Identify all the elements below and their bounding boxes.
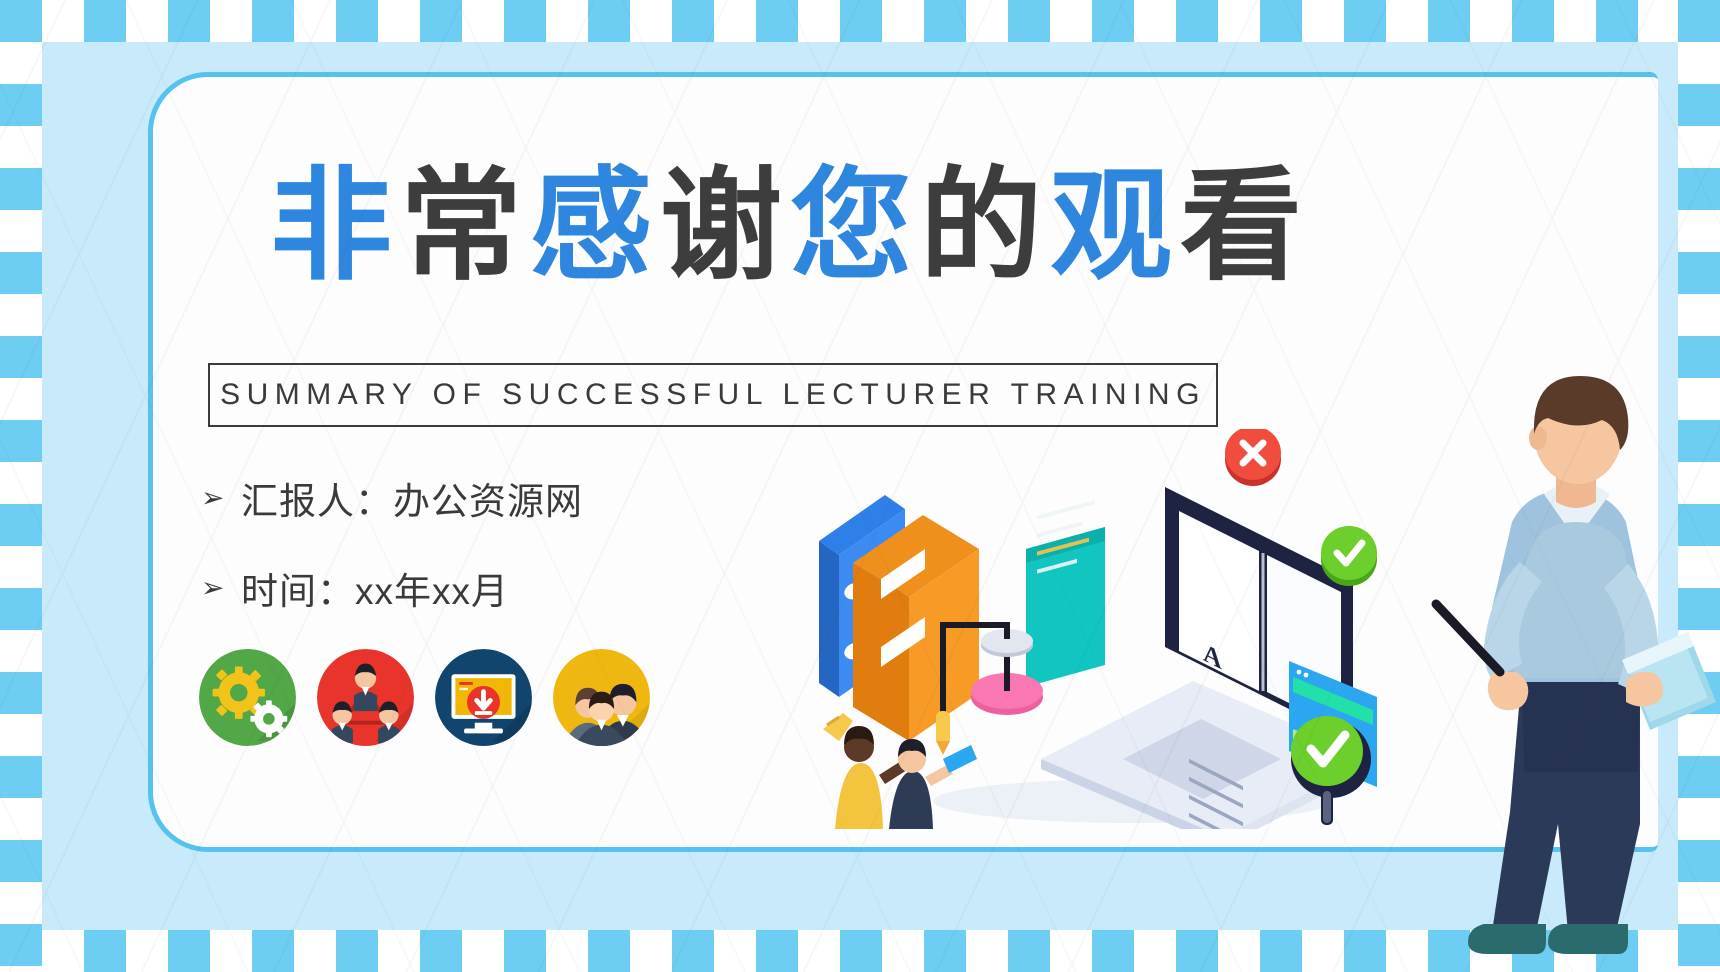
title-char-6: 的 xyxy=(920,161,1050,293)
title-char-3: 感 xyxy=(530,161,660,293)
frame-stripe-left xyxy=(0,0,42,972)
team-network-icon xyxy=(317,649,414,746)
isometric-illustration: A B xyxy=(793,429,1413,829)
title-char-8: 看 xyxy=(1180,161,1310,293)
title-char-5: 您 xyxy=(790,161,920,293)
presenter-label: 汇报人：办公资源网 xyxy=(241,471,583,525)
list-item: ➢ 汇报人：办公资源网 xyxy=(201,471,583,525)
title-char-7: 观 xyxy=(1050,161,1180,293)
title-char-4: 谢 xyxy=(660,161,790,293)
subtitle-text: SUMMARY OF SUCCESSFUL LECTURER TRAINING xyxy=(220,378,1206,412)
list-item: ➢ 时间：xx年xx月 xyxy=(201,561,583,615)
page-title: 非常感谢您的观看 xyxy=(195,161,1385,293)
people-group-icon xyxy=(553,649,650,746)
gears-icon xyxy=(199,649,296,746)
arrow-bullet-icon: ➢ xyxy=(201,574,241,602)
arrow-bullet-icon: ➢ xyxy=(201,484,241,512)
title-char-2: 常 xyxy=(400,161,530,293)
title-char-1: 非 xyxy=(270,161,400,293)
bullet-list: ➢ 汇报人：办公资源网 ➢ 时间：xx年xx月 xyxy=(201,471,583,651)
monitor-download-icon xyxy=(435,649,532,746)
flat-icon-row xyxy=(199,649,650,746)
slide-root: 非常感谢您的观看 SUMMARY OF SUCCESSFUL LECTURER … xyxy=(0,0,1720,972)
subtitle-box: SUMMARY OF SUCCESSFUL LECTURER TRAINING xyxy=(208,363,1218,427)
lecturer-person xyxy=(1426,372,1720,972)
frame-stripe-top xyxy=(0,0,1720,42)
date-label: 时间：xx年xx月 xyxy=(241,561,509,615)
